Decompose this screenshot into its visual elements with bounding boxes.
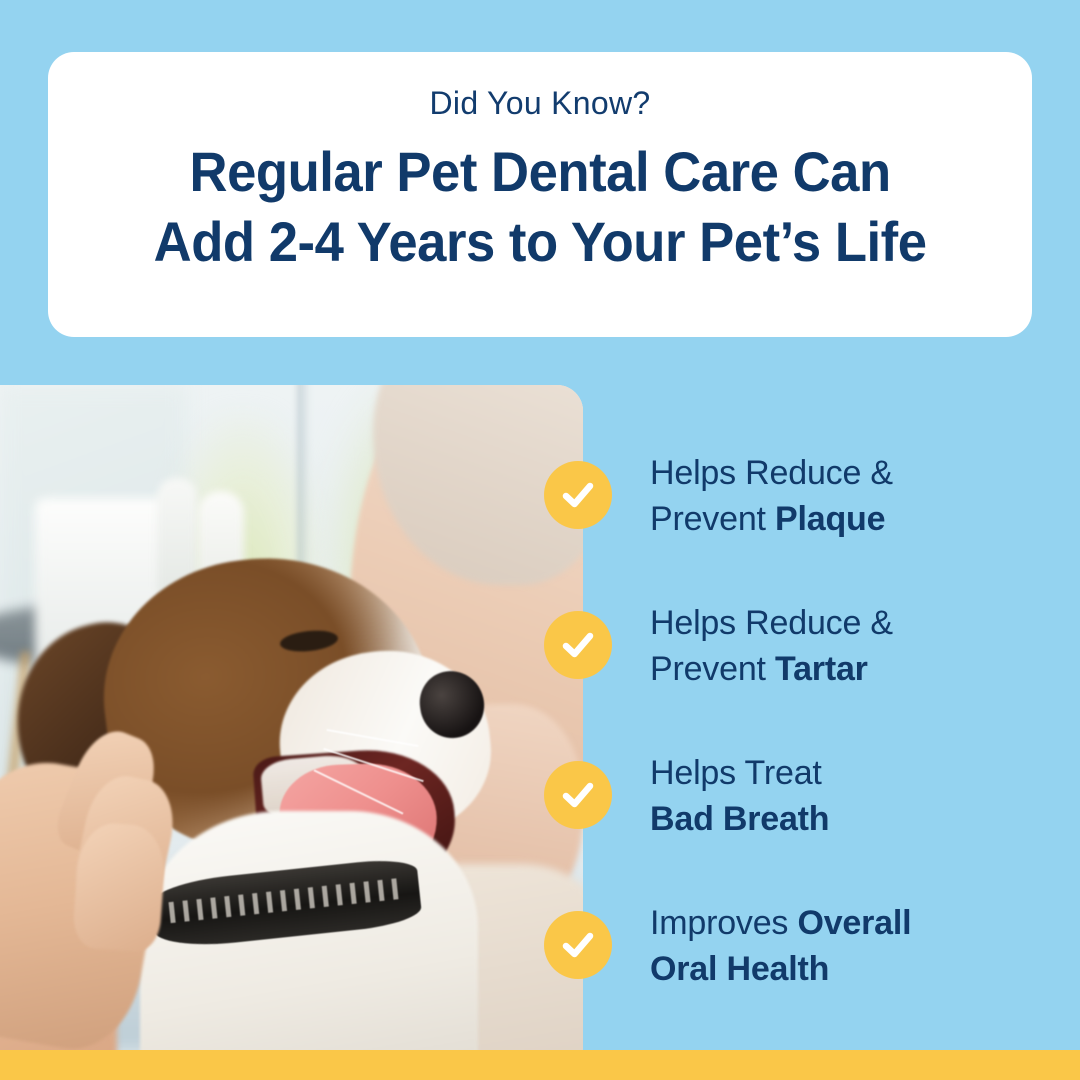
benefit-line-2: Prevent Plaque: [650, 496, 1010, 542]
eyebrow-text: Did You Know?: [430, 86, 651, 121]
benefit-label: Helps Reduce & Prevent Tartar: [650, 600, 1010, 692]
benefit-label: Helps Treat Bad Breath: [650, 750, 1010, 842]
benefit-label: Helps Reduce & Prevent Plaque: [650, 450, 1010, 542]
benefit-item-oral-health: Improves Overall Oral Health: [544, 894, 1014, 1044]
headline-line-2: Add 2-4 Years to Your Pet’s Life: [154, 207, 927, 277]
benefit-line-2-normal: Prevent: [650, 650, 775, 688]
benefit-item-bad-breath: Helps Treat Bad Breath: [544, 744, 1014, 894]
benefit-line-2-bold: Bad Breath: [650, 800, 829, 838]
benefit-line-1: Helps Reduce &: [650, 600, 1010, 646]
benefit-item-tartar: Helps Reduce & Prevent Tartar: [544, 594, 1014, 744]
photo-finger: [71, 821, 167, 953]
check-icon: [544, 911, 612, 979]
benefit-line-1: Helps Reduce &: [650, 450, 1010, 496]
benefit-line-1: Improves Overall: [650, 900, 1010, 946]
poster-root: Did You Know? Regular Pet Dental Care Ca…: [0, 0, 1080, 1080]
check-icon: [544, 761, 612, 829]
benefit-item-plaque: Helps Reduce & Prevent Plaque: [544, 444, 1014, 594]
check-icon: [544, 461, 612, 529]
benefit-list: Helps Reduce & Prevent Plaque Helps Redu…: [544, 444, 1014, 1044]
benefit-line-2: Oral Health: [650, 946, 1010, 992]
benefit-line-1-normal: Improves: [650, 904, 797, 942]
benefit-line-1-bold: Overall: [797, 904, 911, 942]
headline-card: Did You Know? Regular Pet Dental Care Ca…: [48, 52, 1032, 337]
benefit-label: Improves Overall Oral Health: [650, 900, 1010, 992]
benefit-line-2-bold: Plaque: [775, 500, 885, 538]
benefit-line-2: Prevent Tartar: [650, 646, 1010, 692]
hero-photo: [0, 385, 583, 1050]
headline-line-1: Regular Pet Dental Care Can: [154, 137, 927, 207]
page-title: Regular Pet Dental Care Can Add 2-4 Year…: [154, 137, 927, 277]
benefit-line-2-bold: Tartar: [775, 650, 868, 688]
bottom-accent-bar: [0, 1050, 1080, 1080]
benefit-line-1: Helps Treat: [650, 750, 1010, 796]
check-icon: [544, 611, 612, 679]
benefit-line-2-normal: Prevent: [650, 500, 775, 538]
benefit-line-2-bold: Oral Health: [650, 950, 829, 988]
benefit-line-2: Bad Breath: [650, 796, 1010, 842]
